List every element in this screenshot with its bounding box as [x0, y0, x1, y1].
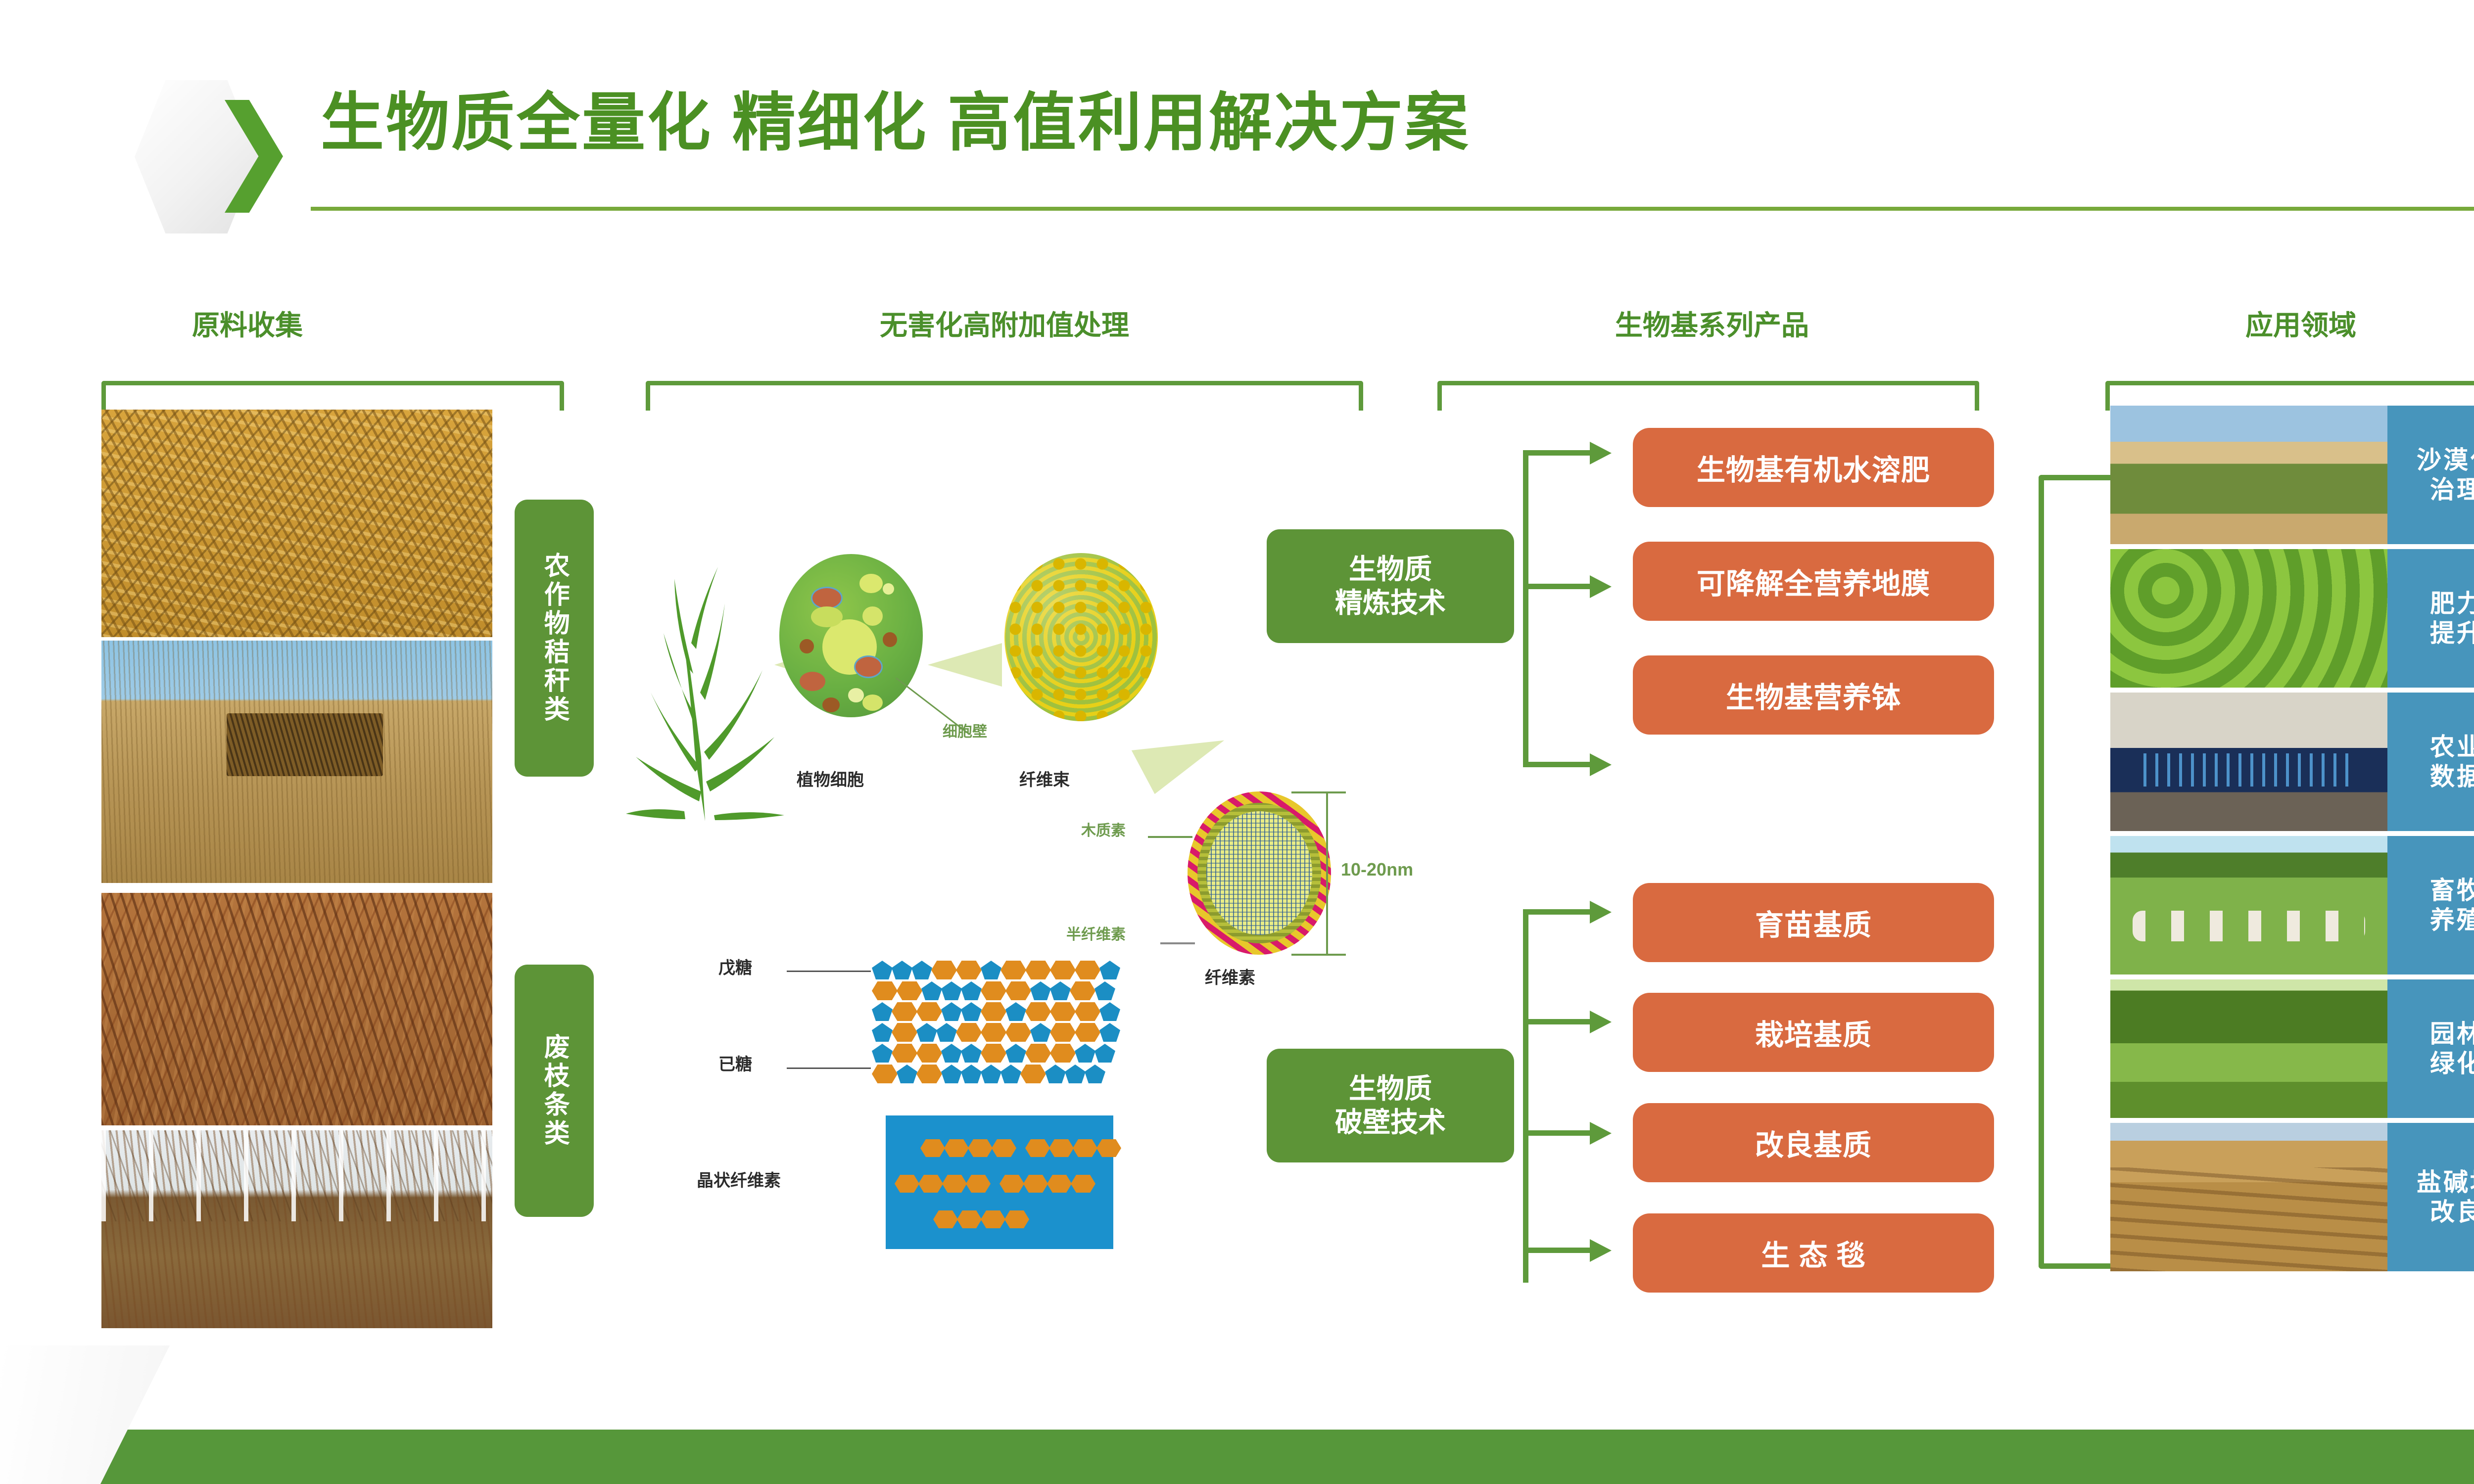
- label-fiber-bundle: 纤维束: [1019, 772, 1070, 788]
- caption-line1: 农业: [2430, 733, 2474, 761]
- application-row-desert[interactable]: 沙漠化 治理: [2110, 406, 2474, 544]
- connector-vertical-wall-breaking: [1523, 909, 1528, 1283]
- caption-line2: 提升: [2430, 619, 2474, 647]
- application-row-data[interactable]: 农业 数据: [2110, 693, 2474, 831]
- caption-line1: 畜牧: [2430, 877, 2474, 904]
- hexose-glyph: [1020, 1065, 1046, 1083]
- hexose-glyph: [1075, 1023, 1100, 1042]
- cellulose-unit-glyph: [981, 1210, 1005, 1228]
- pentose-glyph: [1065, 1065, 1086, 1083]
- cellulose-unit-glyph: [968, 1139, 993, 1157]
- pentose-glyph: [1094, 981, 1115, 1000]
- pentose-glyph: [1000, 1065, 1021, 1083]
- footer-bar: [0, 1430, 2474, 1484]
- lignin-leader: [1148, 836, 1192, 838]
- sugar-chain-diagram: [872, 961, 1119, 1084]
- label-cellulose: 纤维素: [1205, 970, 1255, 986]
- label-pentose: 戊糖: [718, 960, 752, 976]
- tech-label-line2: 精炼技术: [1335, 586, 1446, 620]
- page-header: 生物质全量化 精细化 高值利用解决方案: [0, 0, 2474, 247]
- column-heading-processing: 无害化高附加值处理: [569, 312, 1440, 339]
- hexose-glyph: [956, 961, 982, 979]
- pentose-glyph: [941, 1044, 962, 1063]
- pentose-glyph: [941, 1002, 962, 1021]
- hexose-glyph: [1050, 1023, 1076, 1042]
- application-row-livestock[interactable]: 畜牧 养殖: [2110, 836, 2474, 974]
- hexose-glyph: [931, 961, 957, 979]
- bracket-bio-products: [1437, 381, 1979, 411]
- hexose-glyph: [981, 981, 1006, 1000]
- hexose-leader: [787, 1067, 871, 1069]
- connector-to-product-4: [1523, 909, 1592, 915]
- hexose-glyph: [1025, 1002, 1051, 1021]
- desert-restoration-photo: [2110, 406, 2387, 544]
- connector-to-product-5: [1523, 1019, 1592, 1024]
- pentose-glyph: [981, 961, 1001, 979]
- product-box-bio-nutrition-pot[interactable]: 生物基营养钵: [1633, 655, 1994, 735]
- label-crystalline-cellulose: 晶状纤维素: [697, 1172, 781, 1189]
- pentose-glyph: [1050, 981, 1071, 1000]
- pruned-branches-photo: [101, 893, 492, 1125]
- pentose-glyph: [1099, 1023, 1120, 1042]
- cellulose-unit-glyph: [1023, 1175, 1048, 1193]
- arrow-to-product-7: [1590, 1239, 1612, 1262]
- corn-stalk-field-photo: [101, 410, 492, 637]
- cellulose-unit-glyph: [944, 1139, 969, 1157]
- hexose-glyph: [981, 1044, 1006, 1063]
- pentose-glyph: [961, 981, 982, 1000]
- zoom-beam-3: [1132, 710, 1231, 794]
- hexose-glyph: [897, 981, 922, 1000]
- pentose-glyph: [961, 1002, 982, 1021]
- cellulose-unit-glyph: [957, 1210, 982, 1228]
- cellulose-unit-glyph: [895, 1175, 919, 1193]
- application-caption-desert: 沙漠化 治理: [2387, 406, 2474, 544]
- product-box-eco-blanket[interactable]: 生 态 毯: [1633, 1213, 1994, 1293]
- cellulose-unit-glyph: [1025, 1139, 1050, 1157]
- hexose-glyph: [1005, 1023, 1031, 1042]
- hexose-glyph: [1075, 961, 1100, 979]
- hexose-glyph: [892, 1044, 917, 1063]
- tech-label-line1: 生物质: [1349, 553, 1432, 586]
- connector-vertical-refining: [1523, 450, 1528, 767]
- product-box-improvement-substrate[interactable]: 改良基质: [1633, 1103, 1994, 1182]
- cellulose-unit-glyph: [918, 1175, 943, 1193]
- pentose-glyph: [1099, 961, 1120, 979]
- product-box-seedling-substrate[interactable]: 育苗基质: [1633, 883, 1994, 962]
- pentose-leader: [787, 971, 871, 972]
- application-caption-data: 农业 数据: [2387, 693, 2474, 831]
- pentose-glyph: [1005, 1002, 1026, 1021]
- cellulose-unit-glyph: [1049, 1139, 1074, 1157]
- connector-to-product-7: [1523, 1248, 1592, 1253]
- label-lignin: 木质素: [1081, 824, 1126, 838]
- pentose-glyph: [921, 981, 942, 1000]
- caption-line2: 绿化: [2430, 1050, 2474, 1077]
- hexose-glyph: [1075, 1002, 1100, 1021]
- caption-line2: 治理: [2430, 476, 2474, 504]
- cellulose-unit-glyph: [1047, 1175, 1072, 1193]
- category-label-waste-branches: 废枝条类: [515, 965, 594, 1217]
- dimension-tick-top: [1291, 791, 1346, 793]
- caption-line1: 盐碱地: [2417, 1168, 2474, 1196]
- cellulose-unit-glyph: [1096, 1139, 1121, 1157]
- pentose-glyph: [1045, 1065, 1066, 1083]
- caption-line1: 肥力: [2430, 590, 2474, 617]
- label-plant-cell: 植物细胞: [797, 772, 864, 788]
- pentose-glyph: [1085, 1065, 1105, 1083]
- product-box-cultivation-substrate[interactable]: 栽培基质: [1633, 993, 1994, 1072]
- hexose-glyph: [981, 1002, 1006, 1021]
- cellulose-unit-glyph: [1004, 1210, 1029, 1228]
- page-title: 生物质全量化 精细化 高值利用解决方案: [321, 92, 1470, 155]
- cellulose-unit-glyph: [942, 1175, 967, 1193]
- fiber-bundle-illustration: [1004, 553, 1158, 721]
- application-row-saline[interactable]: 盐碱地 改良: [2110, 1123, 2474, 1271]
- label-cell-wall: 细胞壁: [943, 725, 987, 740]
- cellulose-unit-glyph: [966, 1175, 991, 1193]
- zoom-beam-2: [928, 643, 1002, 687]
- application-caption-fertility: 肥力 提升: [2387, 549, 2474, 688]
- crystalline-cellulose-diagram: [886, 1115, 1113, 1249]
- cellulose-nanostructure-illustration: [1188, 791, 1331, 955]
- pentose-glyph: [1005, 1044, 1026, 1063]
- hexose-glyph: [1005, 981, 1031, 1000]
- cellulose-unit-glyph: [999, 1175, 1024, 1193]
- column-heading-raw-material: 原料收集: [99, 312, 396, 339]
- landscape-greening-photo: [2110, 979, 2387, 1118]
- hexose-glyph: [1000, 961, 1026, 979]
- application-caption-greening: 园林 绿化: [2387, 979, 2474, 1118]
- agriculture-data-photo: [2110, 693, 2387, 831]
- hexose-glyph: [892, 1002, 917, 1021]
- cellulose-unit-glyph: [992, 1139, 1016, 1157]
- hexose-glyph: [1050, 1002, 1076, 1021]
- pentose-glyph: [941, 981, 962, 1000]
- pentose-glyph: [897, 1065, 917, 1083]
- label-hemicellulose: 半纤维素: [1066, 927, 1126, 942]
- application-row-fertility[interactable]: 肥力 提升: [2110, 549, 2474, 688]
- arrow-to-product-6: [1590, 1122, 1612, 1145]
- cabbage-field-photo: [2110, 549, 2387, 688]
- tech-box-biomass-wall-breaking[interactable]: 生物质 破壁技术: [1267, 1049, 1514, 1162]
- label-dimension: 10-20nm: [1341, 861, 1413, 879]
- pentose-glyph: [872, 1044, 893, 1063]
- hexose-glyph: [1025, 961, 1051, 979]
- cellulose-unit-glyph: [933, 1210, 958, 1228]
- pentose-glyph: [961, 1044, 982, 1063]
- connector-to-product-3: [1523, 762, 1592, 767]
- hexose-glyph: [916, 1002, 942, 1021]
- arrow-to-product-2: [1590, 575, 1612, 598]
- pentose-glyph: [892, 961, 912, 979]
- caption-line1: 园林: [2430, 1020, 2474, 1048]
- product-box-water-soluble-fertilizer[interactable]: 生物基有机水溶肥: [1633, 428, 1994, 507]
- pentose-glyph: [961, 1065, 982, 1083]
- connector-to-product-2: [1523, 584, 1592, 589]
- application-caption-livestock: 畜牧 养殖: [2387, 836, 2474, 974]
- caption-line2: 养殖: [2430, 906, 2474, 934]
- caption-line2: 改良: [2430, 1198, 2474, 1226]
- pentose-glyph: [1099, 1002, 1120, 1021]
- tech-label-line2: 破壁技术: [1335, 1106, 1446, 1139]
- hexose-glyph: [1070, 981, 1095, 1000]
- product-box-degradable-mulch-film[interactable]: 可降解全营养地膜: [1633, 542, 1994, 621]
- hexose-glyph: [956, 1023, 982, 1042]
- arrow-to-product-3: [1590, 753, 1612, 776]
- arrow-to-product-5: [1590, 1011, 1612, 1033]
- bracket-raw-material: [101, 381, 564, 411]
- pentose-glyph: [941, 1065, 962, 1083]
- application-caption-saline: 盐碱地 改良: [2387, 1123, 2474, 1271]
- caption-line1: 沙漠化: [2417, 446, 2474, 474]
- connector-to-product-1: [1523, 450, 1592, 456]
- pentose-glyph: [1075, 1044, 1095, 1063]
- pentose-glyph: [872, 961, 893, 979]
- saline-land-photo: [2110, 1123, 2387, 1271]
- tech-box-biomass-refining[interactable]: 生物质 精炼技术: [1267, 529, 1514, 643]
- grass-plant-icon: [626, 544, 789, 821]
- arrow-to-product-1: [1590, 442, 1612, 464]
- dimension-tick-bottom: [1291, 954, 1346, 956]
- vineyard-pruning-photo: [101, 1130, 492, 1328]
- pentose-glyph: [911, 961, 932, 979]
- hexose-glyph: [916, 1065, 942, 1083]
- hexose-glyph: [1050, 1044, 1076, 1063]
- hexose-glyph: [981, 1023, 1006, 1042]
- pentose-glyph: [936, 1023, 957, 1042]
- cellulose-unit-glyph: [1071, 1175, 1095, 1193]
- label-hexose: 已糖: [718, 1056, 752, 1073]
- pentose-glyph: [1030, 1023, 1051, 1042]
- title-underline: [311, 207, 2474, 211]
- cellulose-unit-glyph: [920, 1139, 945, 1157]
- column-heading-applications: 应用领域: [2078, 312, 2474, 339]
- sheep-grazing-photo: [2110, 836, 2387, 974]
- arrow-to-product-4: [1590, 901, 1612, 924]
- hexose-glyph: [872, 1065, 898, 1083]
- hexose-glyph: [916, 1044, 942, 1063]
- column-heading-bio-products: 生物基系列产品: [1415, 312, 2009, 339]
- pentose-glyph: [981, 1065, 1001, 1083]
- hexagon-chevron-logo: [135, 80, 283, 233]
- tech-label-line1: 生物质: [1349, 1072, 1432, 1106]
- category-label-crop-straw: 农作物秸秆类: [515, 500, 594, 777]
- hexose-glyph: [892, 1023, 917, 1042]
- hexose-glyph: [1050, 961, 1076, 979]
- hexose-glyph: [1025, 1044, 1051, 1063]
- hexose-glyph: [872, 981, 898, 1000]
- hemicellulose-leader: [1160, 942, 1195, 944]
- application-row-greening[interactable]: 园林 绿化: [2110, 979, 2474, 1118]
- connector-to-product-6: [1523, 1130, 1592, 1136]
- caption-line2: 数据: [2430, 763, 2474, 790]
- pentose-glyph: [1030, 981, 1051, 1000]
- pentose-glyph: [1094, 1044, 1115, 1063]
- pentose-glyph: [916, 1023, 937, 1042]
- pentose-glyph: [872, 1002, 893, 1021]
- bracket-processing: [646, 381, 1363, 411]
- pentose-glyph: [872, 1023, 893, 1042]
- straw-bale-field-photo: [101, 641, 492, 883]
- dimension-bar: [1326, 791, 1328, 955]
- cellulose-unit-glyph: [1073, 1139, 1097, 1157]
